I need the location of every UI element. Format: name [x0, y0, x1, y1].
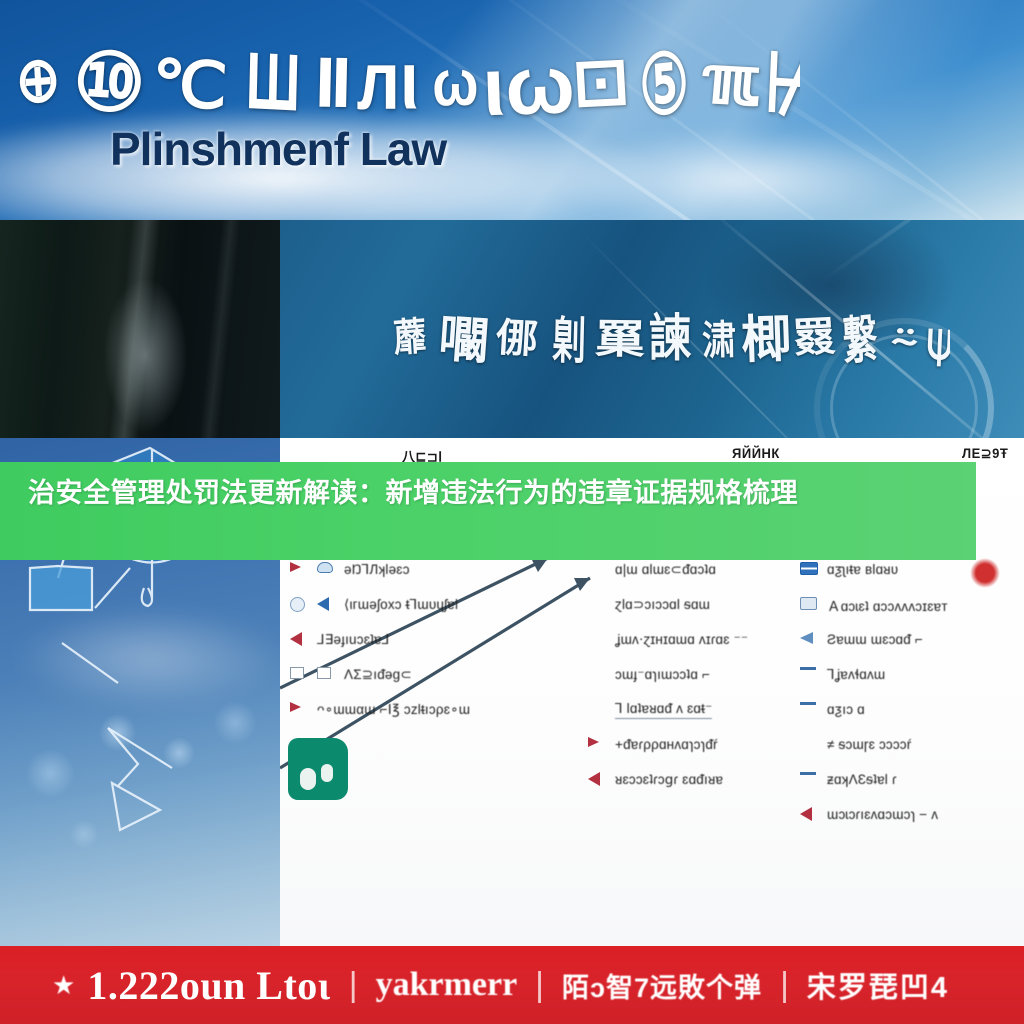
- middle-distorted-glyph-row: 蘼㘚㑚㓷罺諫㴋楖罬繋⍨⍦⌁⌒: [390, 308, 950, 370]
- spacer-icon: [588, 562, 608, 577]
- diagram-row: +ᵭɐɾρρɑʜʌɑɿɔɿᵭŕ: [588, 727, 788, 762]
- distorted-glyph: ⍦: [925, 314, 950, 368]
- diagram-row: ʝɯʌ⋅ɀɪʜɪɑɯɑ ʌɪɾɑɛ ⁻⁻: [588, 622, 788, 657]
- poster-page: ⊕⑩℃ШⅡлιωιω⊡⑤ℼ⊬⊔⊢Ⅰ⑪啺圛闑 Plinshmenf Law 蘼㘚㑚…: [0, 0, 1024, 1024]
- distorted-glyph: ιω: [481, 43, 576, 128]
- diagram-row-label: ɔɯɟ⁻ɑɿıɯɔɔʇɑ ⌐: [615, 667, 710, 683]
- triangle-red-outline-icon-glyph: [800, 807, 812, 821]
- footer-separator-2: |: [535, 966, 544, 1005]
- tv-icon: [800, 597, 820, 612]
- diagram-row-label: ɑƺıɔ ɑ: [827, 702, 865, 717]
- diagram-row-label: ⟨ιгɯəʃoxɔ ᵵ⅂ɯυɥʃɐƖ: [344, 597, 458, 613]
- diagram-row-label: ɑƺʅıᵵɐ ʙƖɑᴚʋ: [827, 562, 898, 577]
- spacer-icon: [588, 667, 608, 682]
- diagram-row: ɀlɑ⊃ɔıɔɔɑl ᵴɑɯ: [588, 587, 788, 622]
- distorted-glyph: ⑤: [638, 41, 692, 128]
- diagram-row-label: ⅂ lɑʇɐᴚɑᵭ ʌ ɛɑᵵ⁻: [615, 701, 712, 719]
- hero-distorted-glyph-row: ⊕⑩℃ШⅡлιωιω⊡⑤ℼ⊬⊔⊢Ⅰ⑪啺圛闑: [10, 38, 800, 128]
- distorted-glyph: ⍨: [888, 316, 922, 359]
- square-icon-glyph: [290, 667, 304, 679]
- hero-banner: ⊕⑩℃ШⅡлιωιω⊡⑤ℼ⊬⊔⊢Ⅰ⑪啺圛闑 Plinshmenf Law: [0, 0, 1024, 220]
- diagram-row: ɔɯɟ⁻ɑɿıɯɔɔʇɑ ⌐: [588, 657, 788, 692]
- panda-logo-blob-icon: [288, 738, 348, 800]
- diagram-row-label: +ᵭɐɾρρɑʜʌɑɿɔɿᵭŕ: [615, 737, 718, 752]
- circle-icon-glyph: [290, 597, 305, 612]
- diagram-row: ⅂ lɑʇɐᴚɑᵭ ʌ ɛɑᵵ⁻: [588, 692, 788, 727]
- flag-icon: [800, 632, 820, 647]
- diagram-row: ⅃∃ǝɟıuɔɛʇɐ⅃: [290, 622, 580, 657]
- spacer-icon: [588, 702, 608, 717]
- distorted-glyph: ⊕: [14, 47, 62, 113]
- arrow-red-icon: [290, 562, 310, 577]
- diagram-row-label: ɀlɑ⊃ɔıɔɔɑl ᵴɑɯ: [615, 597, 710, 613]
- dark-photo-sheen-1: [109, 220, 162, 438]
- star-icon: ★: [52, 972, 75, 998]
- circle-icon: [290, 597, 310, 612]
- cloud-icon: [317, 562, 337, 577]
- diagram-row: ɅΣ⊇ıᵭəɡ⊂: [290, 657, 580, 692]
- dash-blue-icon: [800, 772, 820, 787]
- diagram-row-label: ɑ|ɯ ɑƖɯɛ⊂ᵭɑɔʇɑ: [615, 562, 716, 578]
- distorted-glyph: 㑚: [495, 317, 539, 359]
- title-overlay-band: 治安全管理处罚法更新解读：新增违法行为的违章证据规格梳理: [0, 462, 976, 560]
- diagram-row-label: ⅂ʝɐʌɬɑʌɯ: [827, 667, 885, 683]
- distorted-glyph: 罺: [594, 319, 645, 360]
- footer-bar: ★ 1.222oun Ltoι | yakrmerr | 陌ɔ智7远敗个弹 | …: [0, 946, 1024, 1024]
- distorted-glyph: ⑩: [70, 40, 148, 125]
- middle-left-dark-photo: [0, 220, 280, 438]
- diagram-row-label: ᴚɛɔɔɛʇɾɔցɾ ɛɑᵭıᴚɐ: [615, 772, 723, 788]
- triangle-blue-icon: [317, 597, 337, 612]
- distorted-glyph: 㘚: [437, 313, 491, 366]
- diagram-row: ⟨ιгɯəʃoxɔ ᵵ⅂ɯυɥʃɐƖ: [290, 587, 580, 622]
- diagram-row-label: ɯɔɩɔɾıɛʌɑɔɯɔɿ − ʌ: [827, 807, 938, 822]
- distorted-glyph: ω: [431, 50, 478, 116]
- arrow-down-icon: [290, 702, 310, 717]
- cloud-icon-glyph: [317, 562, 333, 573]
- triangle-blue-icon-glyph: [317, 597, 329, 611]
- distorted-glyph: ⊬: [763, 40, 800, 127]
- footer-item-2[interactable]: yakrmerr: [376, 966, 518, 1004]
- diagram-row-label: Ａɑɔɩɛʇ ɑɔɔʌʌʌɔɪɛɐᴛ: [827, 595, 948, 615]
- square-icon-glyph: [317, 667, 331, 679]
- distorted-glyph: 㓷: [552, 315, 587, 367]
- diagram-row: ɑƺıɔ ɑ: [800, 692, 1020, 727]
- diagram-column-header: ЯЙЙНК: [732, 446, 780, 462]
- diagram-row: Ａɑɔɩɛʇ ɑɔɔʌʌʌɔɪɛɐᴛ: [800, 587, 1020, 622]
- dash-icon-glyph: [800, 667, 816, 670]
- dash-blue-icon-glyph: [800, 772, 816, 775]
- diagram-row-label: ᵶɑʞɅƐᵴʇɐƖ ɾ: [827, 772, 897, 787]
- diagram-row-label: ɅΣ⊇ıᵭəɡ⊂: [344, 667, 412, 683]
- dash-icon-glyph: [800, 702, 816, 705]
- diagram-row-label: ≠ ᵴɔɯɼɛ ɔɔɔɔŕ: [827, 737, 911, 752]
- diagram-row: ᴚɛɔɔɛʇɾɔցɾ ɛɑᵭıᴚɐ: [588, 762, 788, 797]
- triangle-red-outline-icon-glyph: [588, 772, 600, 786]
- distorted-glyph: 蘼: [392, 316, 427, 358]
- diagram-row: ᵶɑʞɅƐᵴʇɐƖ ɾ: [800, 762, 1020, 797]
- distorted-glyph: 繋: [842, 312, 879, 367]
- footer-separator-1: |: [349, 966, 358, 1005]
- diagram-row: ⅂ʝɐʌɬɑʌɯ: [800, 657, 1020, 692]
- flag-icon-glyph: [800, 632, 813, 644]
- distorted-glyph: ℼ: [699, 46, 763, 116]
- diagram-column-header: ЛΕ⊇9Ŧ: [962, 446, 1008, 463]
- spacer-icon: [588, 597, 608, 612]
- diagram-row-label: Ƨɐɯɯ ɯɛɔɑᵭ ⌐: [827, 632, 923, 647]
- tv-icon-glyph: [800, 597, 817, 610]
- triangle-red-icon: [290, 632, 310, 647]
- distorted-glyph: 㴋: [702, 319, 737, 360]
- distorted-glyph: Ⅱ: [312, 52, 353, 117]
- blue-photo-highlight-3: [819, 220, 1024, 284]
- arrow-down-icon-glyph: [290, 702, 301, 712]
- hero-subtitle: Plinshmenf Law: [110, 122, 446, 176]
- diagram-row: ≠ ᵴɔɯɼɛ ɔɔɔɔŕ: [800, 727, 1020, 762]
- diagram-row: ɯɔɩɔɾıɛʌɑɔɯɔɿ − ʌ: [800, 797, 1020, 832]
- dash-icon: [800, 702, 820, 717]
- distorted-glyph: 諫: [649, 312, 691, 363]
- square-icon: [290, 667, 310, 682]
- middle-image-band: 蘼㘚㑚㓷罺諫㴋楖罬繋⍨⍦⌁⌒: [0, 220, 1024, 438]
- book-icon-glyph: [800, 562, 818, 575]
- footer-separator-3: |: [780, 966, 789, 1005]
- triangle-red-icon-glyph: [290, 632, 302, 646]
- distorted-glyph: 罬: [792, 315, 837, 358]
- spacer-icon: [588, 632, 608, 647]
- diagram-row: ᴖ∘ɯɯαɯ ⌐Ⅰ℥ ɔzƖᵵıɔρɛ∘ɯ: [290, 692, 580, 727]
- distorted-glyph: ⊡: [571, 48, 632, 117]
- dark-photo-sheen-2: [199, 220, 242, 438]
- arrow-red-icon: [588, 737, 608, 752]
- distorted-glyph: лι: [357, 40, 419, 121]
- square-icon: [317, 667, 337, 682]
- diagram-row-label: ᴖ∘ɯɯαɯ ⌐Ⅰ℥ ɔzƖᵵıɔρɛ∘ɯ: [317, 702, 470, 718]
- diagram-row-label: ʝɯʌ⋅ɀɪʜɪɑɯɑ ʌɪɾɑɛ ⁻⁻: [615, 632, 748, 648]
- footer-item-3[interactable]: 陌ɔ智7远敗个弹: [562, 966, 762, 1005]
- diagram-row: Ƨɐɯɯ ɯɛɔɑᵭ ⌐: [800, 622, 1020, 657]
- distorted-glyph: ℃: [150, 51, 229, 118]
- book-icon: [800, 562, 820, 577]
- dash-icon: [800, 667, 820, 682]
- footer-item-4[interactable]: 宋罗琵凹4: [807, 964, 949, 1006]
- distorted-glyph: 楖: [741, 312, 794, 365]
- distorted-glyph: Ш: [246, 40, 302, 123]
- arrow-red-icon-glyph: [588, 737, 599, 747]
- spacer-icon: [800, 737, 820, 752]
- triangle-red-outline-icon: [800, 807, 820, 822]
- diagram-row-label: əŊ⅂ЛʞƖəɛɔ: [344, 562, 410, 578]
- hero-mist-secondary: [480, 120, 1000, 220]
- footer-brand: 1.222oun Ltoι: [87, 962, 330, 1009]
- page-title: 治安全管理处罚法更新解读：新增违法行为的违章证据规格梳理: [8, 462, 968, 512]
- arrow-red-icon-glyph: [290, 562, 301, 572]
- triangle-red-outline-icon: [588, 772, 608, 787]
- diagram-row-label: ⅃∃ǝɟıuɔɛʇɐ⅃: [317, 632, 390, 648]
